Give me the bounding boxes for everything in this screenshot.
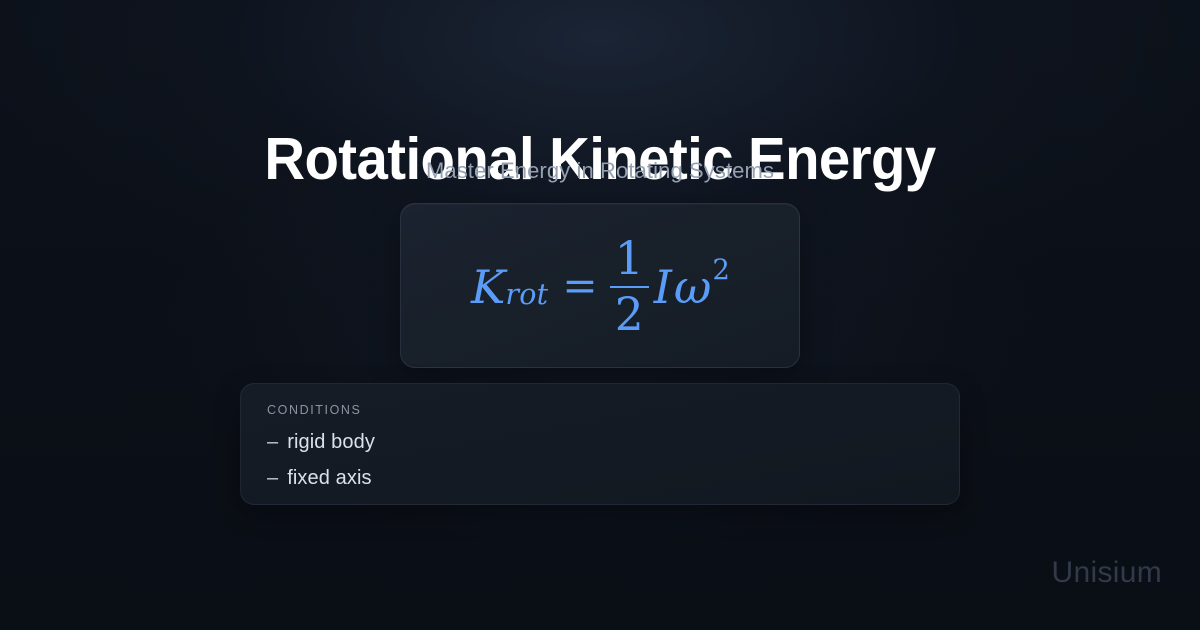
conditions-label: CONDITIONS: [267, 402, 933, 418]
list-item-label: rigid body: [287, 424, 375, 460]
brand-watermark: Unisium: [1052, 556, 1162, 590]
slide-canvas: Rotational Kinetic Energy Master Energy …: [0, 0, 1200, 630]
formula-card: Krot = 1 2 Iω2: [400, 203, 800, 368]
formula-equals-sign: =: [562, 265, 597, 307]
formula-expression: Krot = 1 2 Iω2: [471, 235, 729, 338]
conditions-card: CONDITIONS – rigid body – fixed axis: [240, 383, 960, 505]
list-item: – rigid body: [267, 424, 933, 460]
formula-fraction-denominator: 2: [610, 291, 649, 339]
formula-omega-exponent: 2: [712, 256, 730, 284]
formula-inertia-symbol: I: [652, 264, 673, 310]
formula-lhs-symbol: K: [471, 264, 505, 310]
list-item: – fixed axis: [267, 460, 933, 496]
formula-omega-symbol: ω: [673, 264, 712, 310]
formula-lhs-subscript: rot: [505, 281, 548, 310]
formula-fraction-numerator: 1: [610, 235, 649, 283]
list-item-bullet: –: [267, 460, 278, 496]
list-item-label: fixed axis: [287, 460, 371, 496]
page-subtitle: Master Energy in Rotating Systems: [0, 156, 1200, 186]
formula-fraction: 1 2: [610, 235, 649, 338]
conditions-list: – rigid body – fixed axis: [267, 424, 933, 496]
list-item-bullet: –: [267, 424, 278, 460]
